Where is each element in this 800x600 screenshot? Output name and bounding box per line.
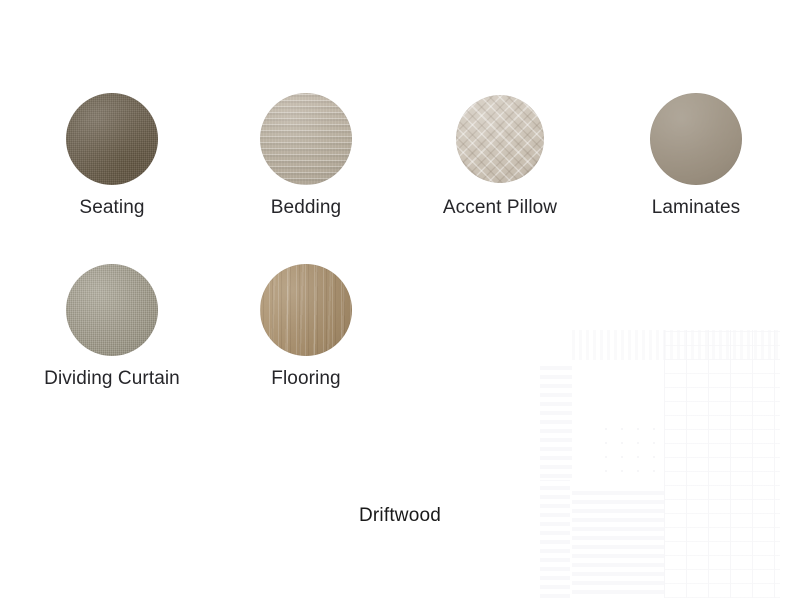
- accent-pillow-swatch-disc[interactable]: [456, 95, 544, 183]
- swatch-flooring[interactable]: Flooring: [214, 264, 398, 390]
- ghost-spreadsheet-artifact: [520, 330, 780, 598]
- bedding-swatch-disc[interactable]: [260, 93, 352, 185]
- palette-board-slide: Seating Bedding Accent Pillow Laminates …: [0, 0, 800, 600]
- swatch-label-accent-pillow: Accent Pillow: [408, 197, 592, 219]
- laminates-swatch-disc[interactable]: [650, 93, 742, 185]
- swatch-accent-pillow[interactable]: Accent Pillow: [408, 95, 592, 219]
- swatch-label-dividing-curtain: Dividing Curtain: [20, 368, 204, 390]
- swatch-seating[interactable]: Seating: [20, 93, 204, 219]
- dividing-curtain-swatch-disc[interactable]: [66, 264, 158, 356]
- swatch-label-flooring: Flooring: [214, 368, 398, 390]
- seating-swatch-disc[interactable]: [66, 93, 158, 185]
- palette-title: Driftwood: [0, 504, 800, 528]
- flooring-swatch-disc[interactable]: [260, 264, 352, 356]
- swatch-dividing-curtain[interactable]: Dividing Curtain: [20, 264, 204, 390]
- swatch-label-seating: Seating: [20, 197, 204, 219]
- swatch-bedding[interactable]: Bedding: [214, 93, 398, 219]
- swatch-laminates[interactable]: Laminates: [604, 93, 788, 219]
- swatch-label-bedding: Bedding: [214, 197, 398, 219]
- swatch-label-laminates: Laminates: [604, 197, 788, 219]
